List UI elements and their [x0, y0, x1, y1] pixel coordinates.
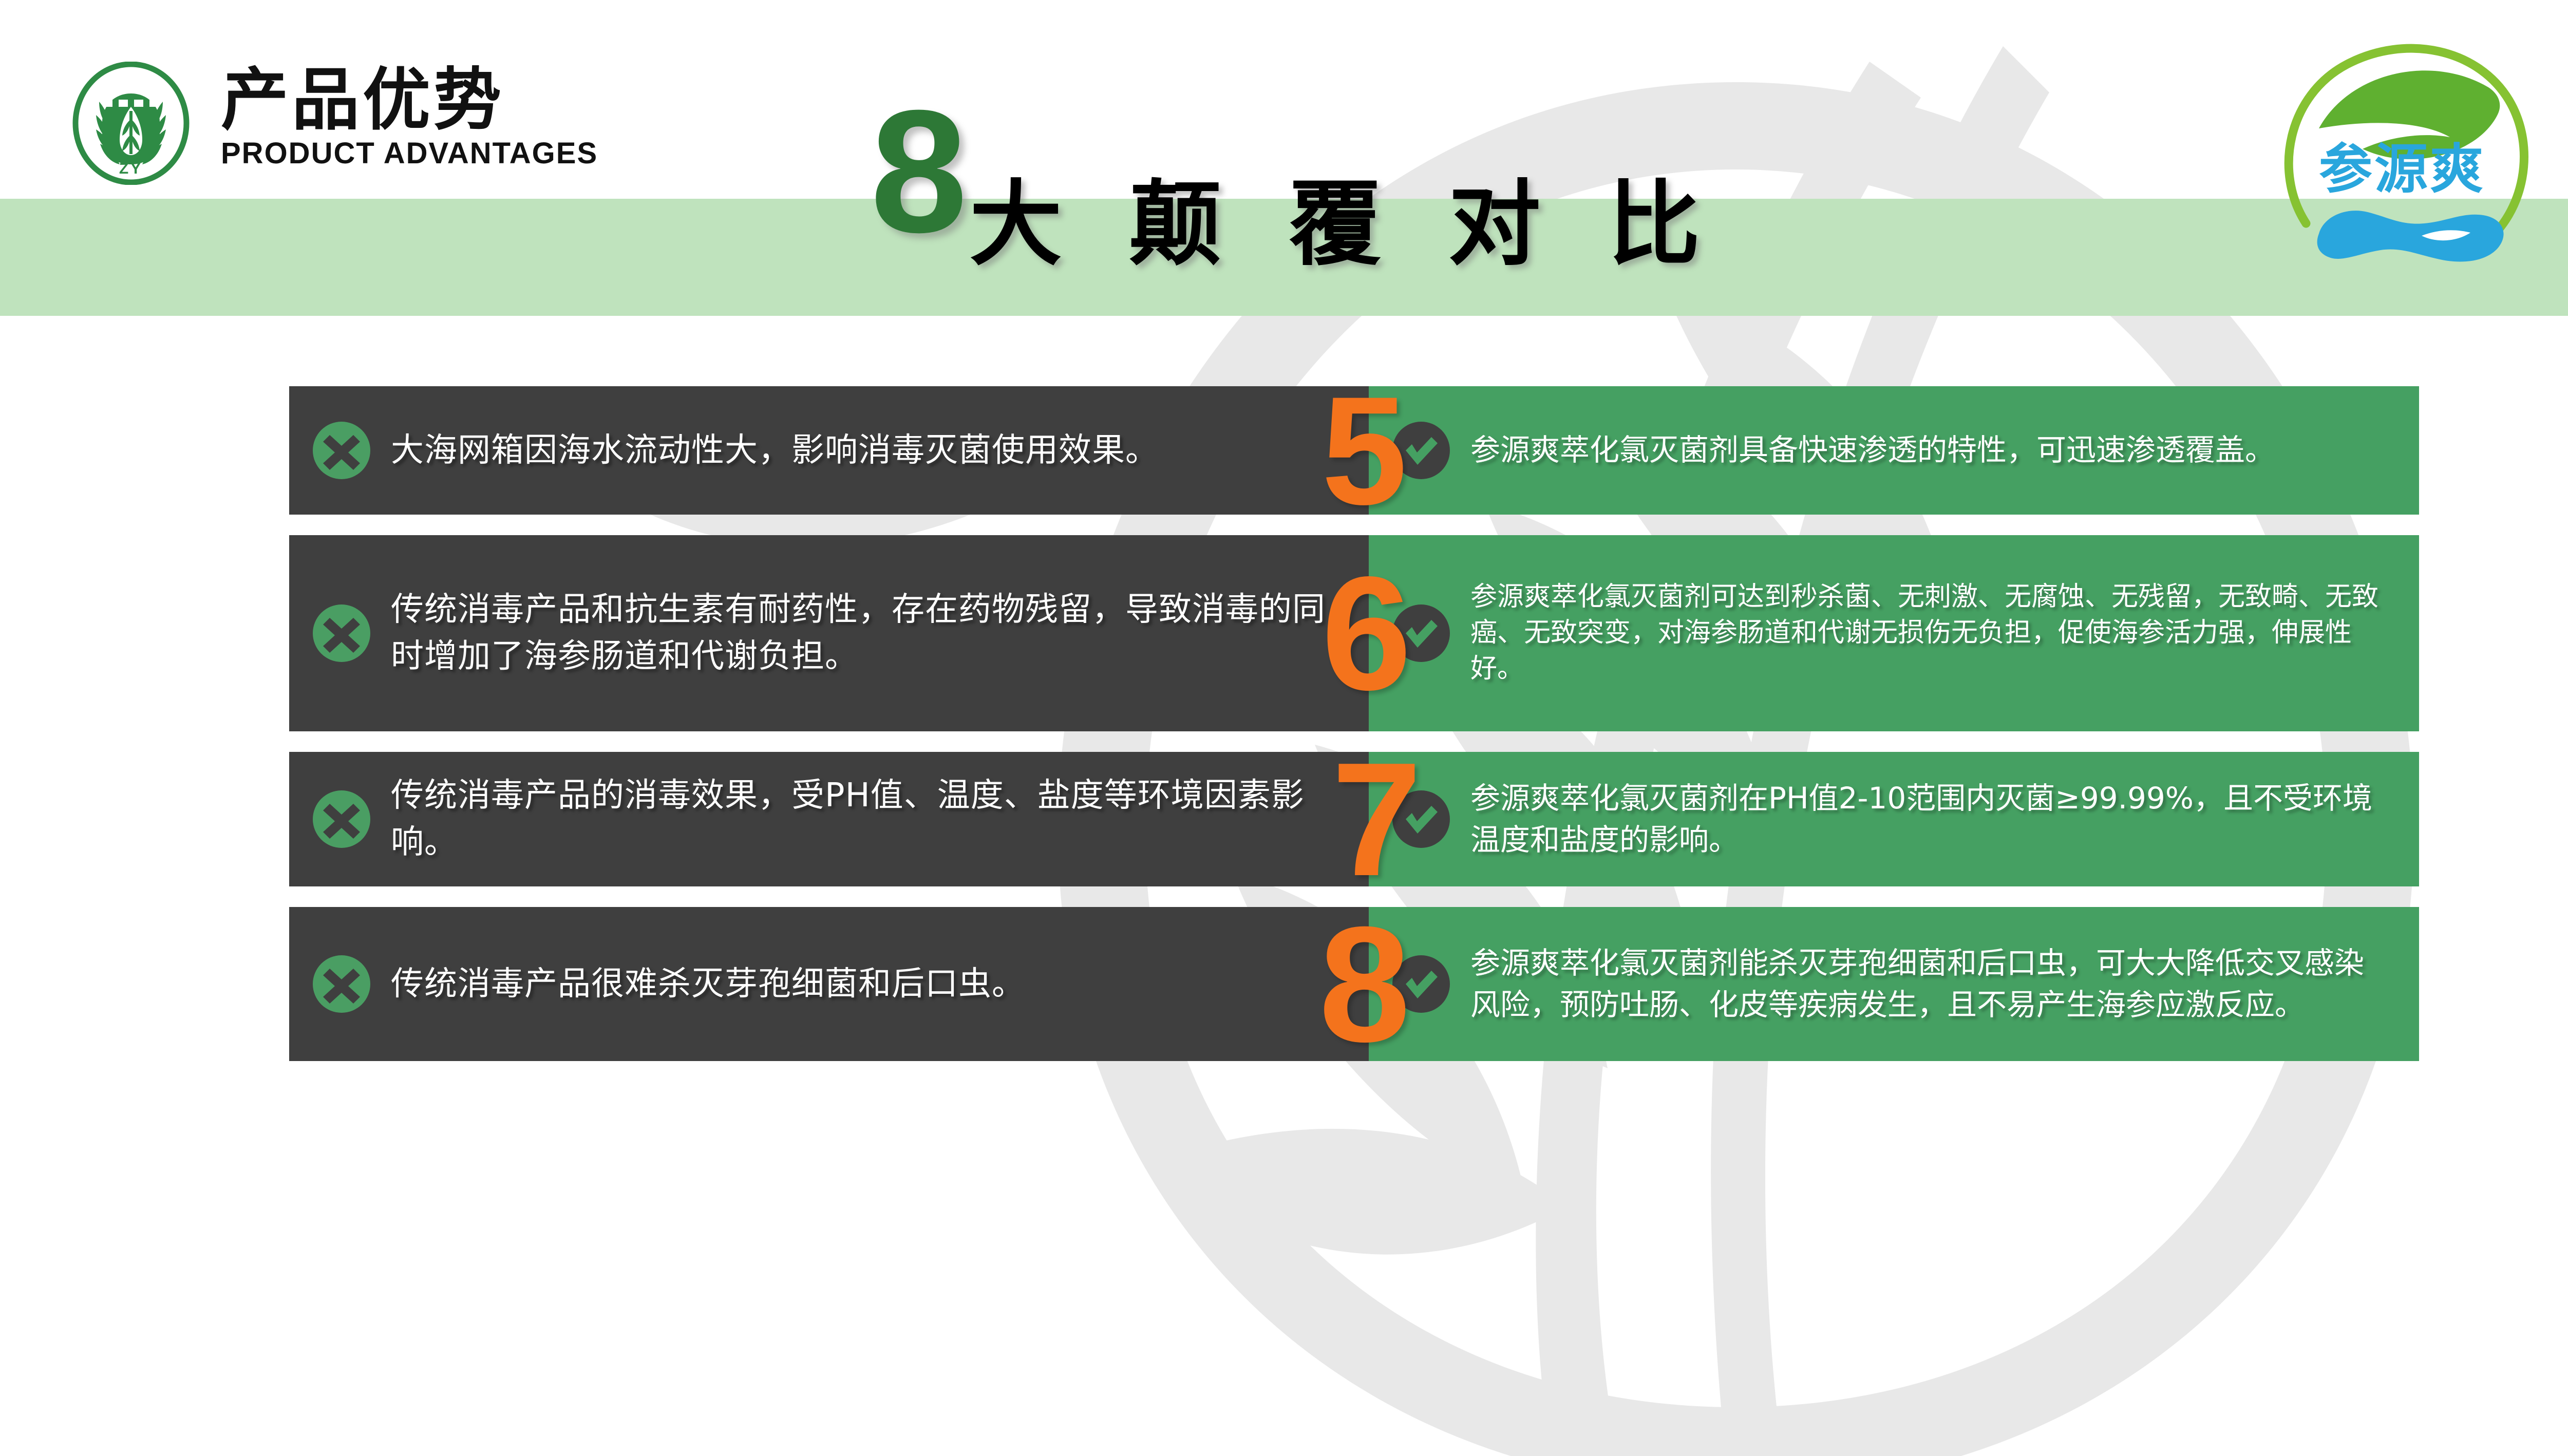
banner-title-text: 大 颠 覆 对 比 [970, 179, 1718, 271]
pro-text: 参源爽萃化氯灭菌剂能杀灭芽孢细菌和后口虫，可大大降低交叉感染风险，预防吐肠、化皮… [1470, 942, 2388, 1026]
x-mark-icon [313, 790, 370, 848]
banner-title-wrap: 8 大 颠 覆 对 比 [0, 118, 2568, 324]
row-con-side: 大海网箱因海水流动性大，影响消毒灭菌使用效果。 [289, 386, 1369, 515]
svg-text:参: 参 [2319, 138, 2372, 200]
pro-text: 参源爽萃化氯灭菌剂具备快速渗透的特性，可迅速渗透覆盖。 [1470, 429, 2275, 471]
comparison-row: 传统消毒产品和抗生素有耐药性，存在药物残留，导致消毒的同时增加了海参肠道和代谢负… [289, 535, 2419, 731]
pro-text: 参源爽萃化氯灭菌剂可达到秒杀菌、无刺激、无腐蚀、无残留，无致畸、无致癌、无致突变… [1470, 579, 2388, 687]
x-mark-icon [313, 955, 370, 1013]
con-text: 传统消毒产品的消毒效果，受PH值、温度、盐度等环境因素影响。 [391, 772, 1333, 866]
product-brand-logo: 参 源 爽 [2257, 18, 2565, 275]
con-text: 大海网箱因海水流动性大，影响消毒灭菌使用效果。 [391, 427, 1159, 474]
svg-text:源: 源 [2374, 138, 2428, 200]
con-text: 传统消毒产品和抗生素有耐药性，存在药物残留，导致消毒的同时增加了海参肠道和代谢负… [391, 587, 1333, 680]
row-con-side: 传统消毒产品很难杀灭芽孢细菌和后口虫。 [289, 907, 1369, 1061]
banner-number-8: 8 [871, 104, 968, 240]
row-con-side: 传统消毒产品的消毒效果，受PH值、温度、盐度等环境因素影响。 [289, 752, 1369, 886]
row-con-side: 传统消毒产品和抗生素有耐药性，存在药物残留，导致消毒的同时增加了海参肠道和代谢负… [289, 535, 1369, 731]
comparison-row: 传统消毒产品很难杀灭芽孢细菌和后口虫。 参源爽萃化氯灭菌剂能杀灭芽孢细菌和后口虫… [289, 907, 2419, 1061]
check-mark-icon [1392, 955, 1450, 1013]
comparison-row: 传统消毒产品的消毒效果，受PH值、温度、盐度等环境因素影响。 参源爽萃化氯灭菌剂… [289, 752, 2419, 886]
x-mark-icon [313, 422, 370, 479]
pro-text: 参源爽萃化氯灭菌剂在PH值2-10范围内灭菌≥99.99%，且不受环境温度和盐度… [1470, 778, 2388, 861]
con-text: 传统消毒产品很难杀灭芽孢细菌和后口虫。 [391, 961, 1025, 1008]
check-mark-icon [1392, 604, 1450, 662]
row-pro-side: 参源爽萃化氯灭菌剂具备快速渗透的特性，可迅速渗透覆盖。 [1369, 386, 2419, 515]
check-mark-icon [1392, 422, 1450, 479]
comparison-rows: 大海网箱因海水流动性大，影响消毒灭菌使用效果。 参源爽萃化氯灭菌剂具备快速渗透的… [289, 386, 2419, 1061]
check-mark-icon [1392, 790, 1450, 848]
row-pro-side: 参源爽萃化氯灭菌剂可达到秒杀菌、无刺激、无腐蚀、无残留，无致畸、无致癌、无致突变… [1369, 535, 2419, 731]
row-pro-side: 参源爽萃化氯灭菌剂能杀灭芽孢细菌和后口虫，可大大降低交叉感染风险，预防吐肠、化皮… [1369, 907, 2419, 1061]
row-pro-side: 参源爽萃化氯灭菌剂在PH值2-10范围内灭菌≥99.99%，且不受环境温度和盐度… [1369, 752, 2419, 886]
svg-text:爽: 爽 [2430, 138, 2483, 200]
x-mark-icon [313, 604, 370, 662]
comparison-row: 大海网箱因海水流动性大，影响消毒灭菌使用效果。 参源爽萃化氯灭菌剂具备快速渗透的… [289, 386, 2419, 515]
